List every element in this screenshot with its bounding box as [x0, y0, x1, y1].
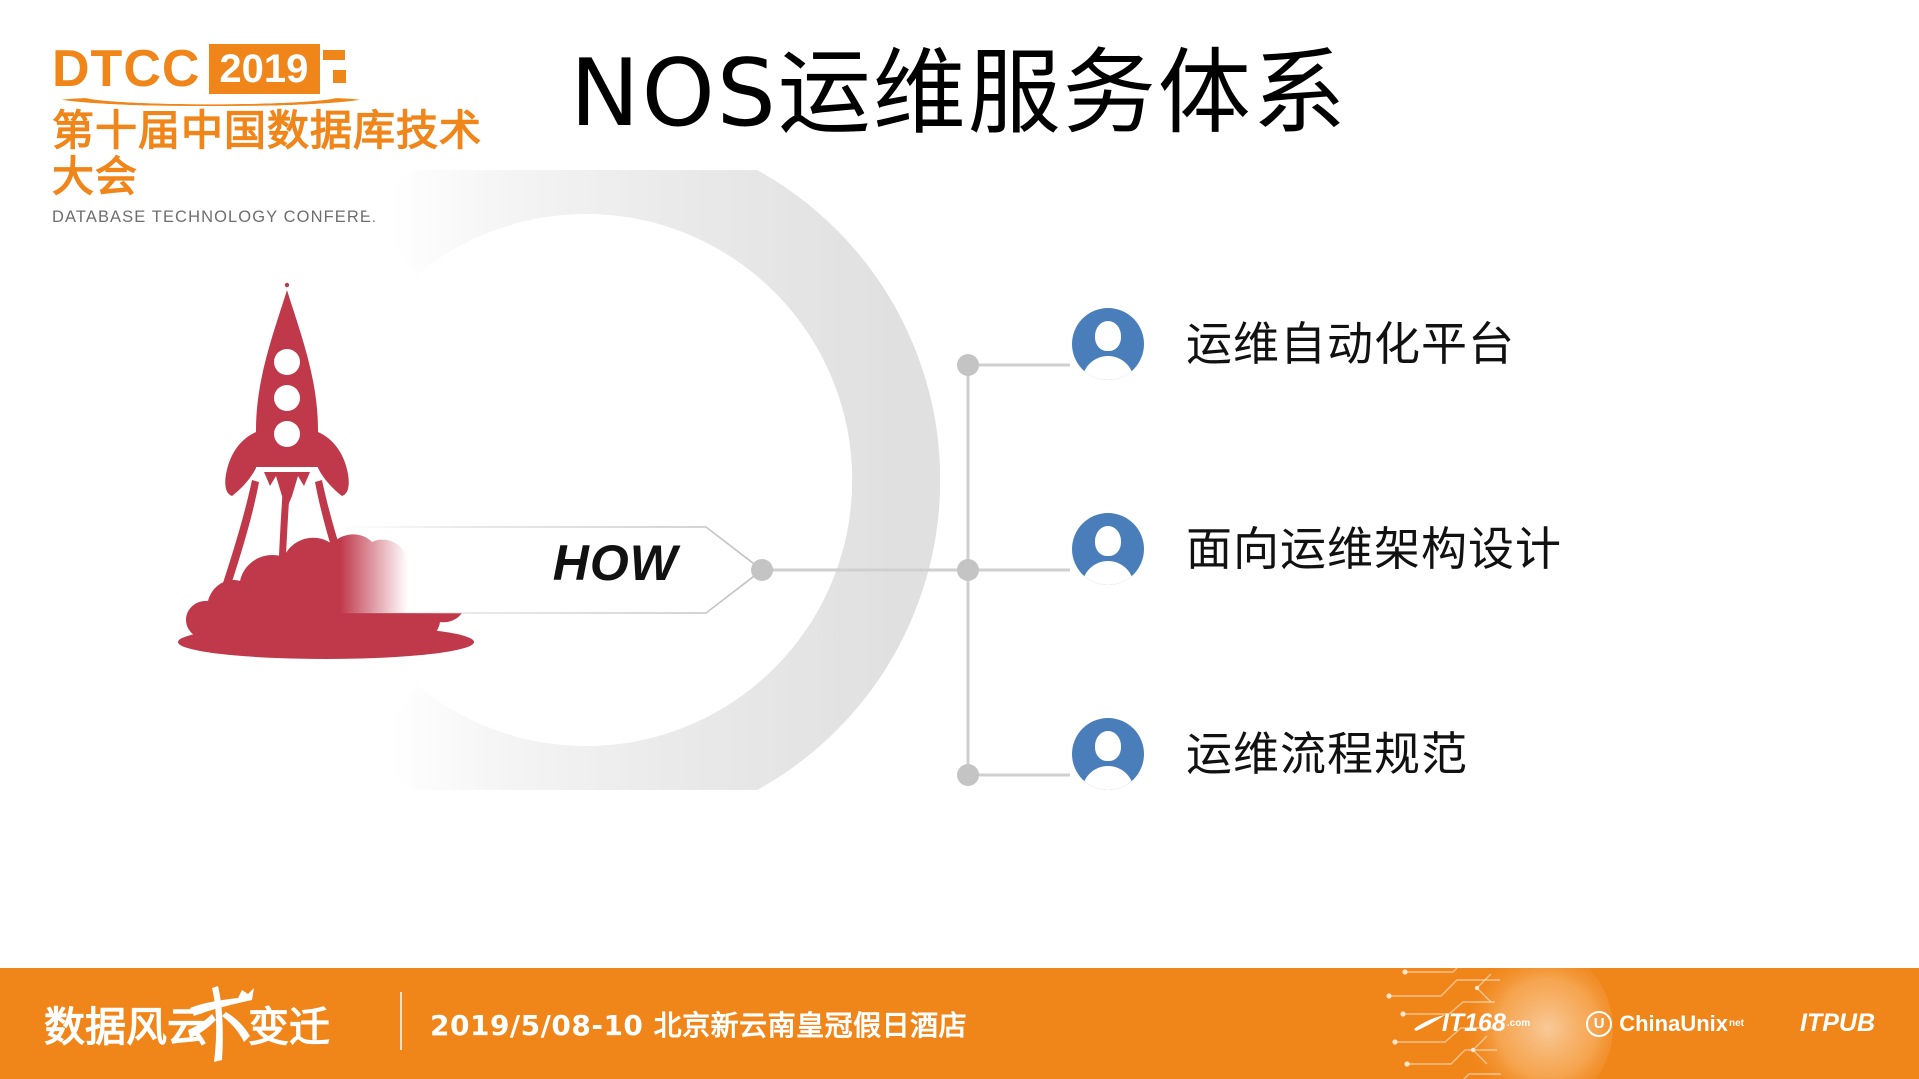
branch-node-dot-2: [957, 559, 979, 581]
logo-year-badge: 2019: [209, 44, 320, 94]
connector-lines: [740, 330, 1120, 830]
list-item-label: 运维自动化平台: [1186, 316, 1515, 372]
partner-logos: IT168.com UChinaUnixnet ITPUB: [1412, 968, 1875, 1079]
person-icon: [1072, 718, 1144, 790]
logo-top-row: DTCC 2019: [52, 40, 512, 94]
chinaunix-text: ChinaUnix: [1619, 1011, 1728, 1037]
branch-node-dot-3: [957, 764, 979, 786]
chinaunix-suffix: net: [1729, 1018, 1744, 1029]
list-item[interactable]: 运维流程规范: [1072, 710, 1832, 798]
how-label: HOW: [458, 534, 678, 592]
logo-square-accent-icon: [323, 46, 355, 94]
it168-text: IT168: [1442, 1009, 1506, 1038]
list-item[interactable]: 面向运维架构设计: [1072, 505, 1832, 593]
itpub-text: ITPUB: [1800, 1009, 1875, 1038]
list-item-label: 面向运维架构设计: [1186, 521, 1562, 577]
dtcc-conference-logo: DTCC 2019 第十届中国数据库技术大会 DATABASE TECHNOLO…: [52, 40, 512, 175]
footer-event-info: 2019/5/08-10 北京新云南皇冠假日酒店: [430, 968, 967, 1079]
chinaunix-logo[interactable]: UChinaUnixnet: [1586, 1011, 1744, 1037]
page-title: NOS运维服务体系: [570, 38, 1348, 148]
person-icon: [1072, 513, 1144, 585]
list-item[interactable]: 运维自动化平台: [1072, 300, 1832, 388]
list-item-label: 运维流程规范: [1186, 726, 1468, 782]
chinaunix-mark-icon: U: [1586, 1011, 1612, 1037]
it168-suffix: .com: [1507, 1018, 1530, 1029]
slide-canvas: DTCC 2019 第十届中国数据库技术大会 DATABASE TECHNOLO…: [0, 0, 1919, 1079]
it168-logo[interactable]: IT168.com: [1412, 1009, 1530, 1038]
person-icon: [1072, 308, 1144, 380]
feature-list: 运维自动化平台 面向运维架构设计 运维流程规范: [1072, 300, 1832, 798]
logo-dtcc-text: DTCC: [52, 44, 200, 94]
footer-slogan: 数据风云 变迁: [44, 968, 394, 1079]
branch-node-dot-1: [957, 354, 979, 376]
footer-divider: [400, 992, 402, 1050]
it168-swoosh-icon: [1412, 1009, 1446, 1025]
hub-node-dot: [751, 559, 773, 581]
itpub-logo[interactable]: ITPUB: [1800, 1009, 1875, 1038]
footer-slogan-part2: 变迁: [248, 1004, 330, 1050]
footer-bar: 数据风云 变迁 2019/5/08-10 北京新云南皇冠假日酒店: [0, 968, 1919, 1079]
